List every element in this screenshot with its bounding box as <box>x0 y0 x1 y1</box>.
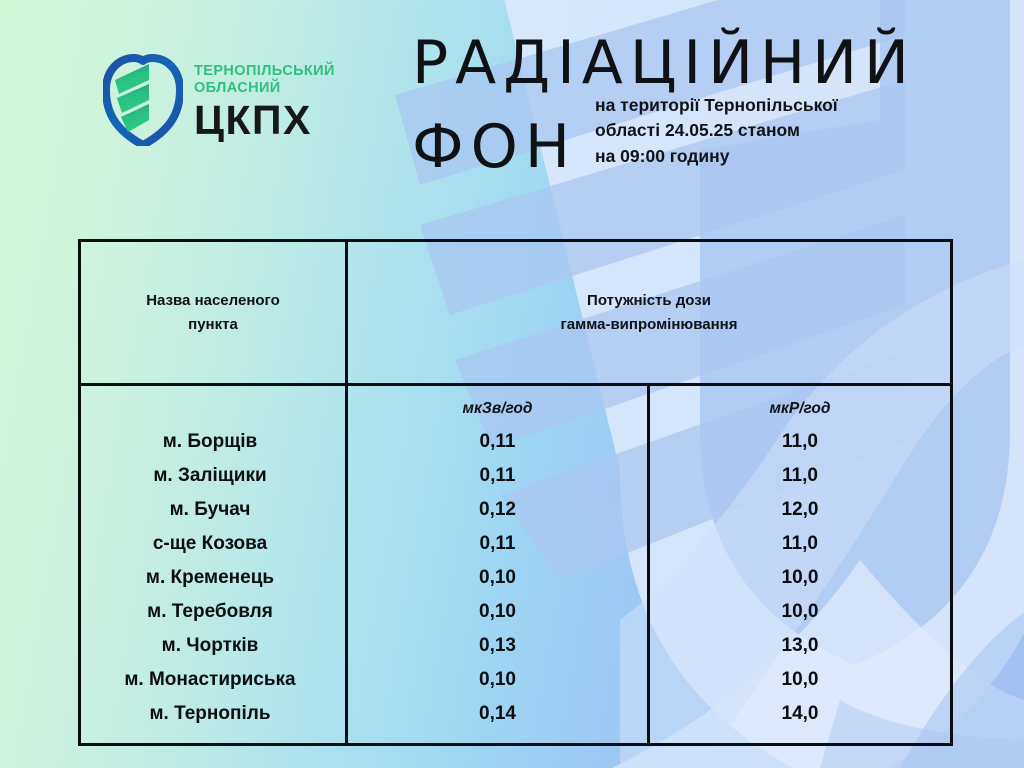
locality-name-cell: м. Заліщики <box>81 459 345 493</box>
org-abbreviation: ЦКПХ <box>194 100 335 141</box>
locality-name-cell: с-ще Козова <box>81 527 345 561</box>
unit-label-sv: мкЗв/год <box>348 393 647 425</box>
microsievert-value-cell: 0,13 <box>348 629 647 663</box>
microsievert-value-cell: 0,10 <box>348 561 647 595</box>
microsievert-cell-list: мкЗв/год 0,110,110,120,110,100,100,130,1… <box>348 386 647 731</box>
microsievert-value-cell: 0,11 <box>348 459 647 493</box>
microsievert-value-cell: 0,10 <box>348 595 647 629</box>
shield-heart-icon <box>103 54 183 146</box>
headline-block: РАДІАЦІЙНИЙ ФОН на території Тернопільсь… <box>412 34 992 177</box>
column-locality: м. Борщівм. Заліщиким. Бучачс-ще Козовам… <box>81 386 348 743</box>
unit-spacer <box>81 393 345 425</box>
unit-label-r: мкР/год <box>650 393 950 425</box>
locality-name-cell: м. Борщів <box>81 425 345 459</box>
headline-word-2: ФОН <box>412 118 577 177</box>
microroentgen-value-cell: 11,0 <box>650 459 950 493</box>
microroentgen-value-cell: 11,0 <box>650 425 950 459</box>
microsievert-value-cell: 0,10 <box>348 663 647 697</box>
header-locality-line-2: пункта <box>146 313 280 336</box>
microroentgen-value-cell: 11,0 <box>650 527 950 561</box>
microsievert-value-cell: 0,14 <box>348 697 647 731</box>
header-dose-line-1: Потужність дози <box>561 289 738 312</box>
headline-word-1: РАДІАЦІЙНИЙ <box>412 34 992 93</box>
subtitle-line-3: на 09:00 годину <box>595 144 838 169</box>
header-dose-text: Потужність дози гамма-випромінювання <box>561 289 738 336</box>
subtitle-line-2: області 24.05.25 станом <box>595 118 838 143</box>
header-locality-text: Назва населеного пункта <box>146 289 280 336</box>
microsievert-value-cell: 0,11 <box>348 425 647 459</box>
microroentgen-value-cell: 13,0 <box>650 629 950 663</box>
microroentgen-value-cell: 12,0 <box>650 493 950 527</box>
locality-name-cell: м. Тернопіль <box>81 697 345 731</box>
poster-canvas: ТЕРНОПІЛЬСЬКИЙ ОБЛАСНИЙ ЦКПХ РАДІАЦІЙНИЙ… <box>0 0 1024 768</box>
microsievert-value-cell: 0,11 <box>348 527 647 561</box>
header-dose-line-2: гамма-випромінювання <box>561 313 738 336</box>
org-line-1: ТЕРНОПІЛЬСЬКИЙ <box>194 63 335 80</box>
locality-name-cell: м. Теребовля <box>81 595 345 629</box>
org-line-2: ОБЛАСНИЙ <box>194 80 335 97</box>
locality-name-cell: м. Кременець <box>81 561 345 595</box>
microsievert-value-cell: 0,12 <box>348 493 647 527</box>
table-body: м. Борщівм. Заліщиким. Бучачс-ще Козовам… <box>81 386 950 743</box>
logo-wordmark: ТЕРНОПІЛЬСЬКИЙ ОБЛАСНИЙ ЦКПХ <box>194 59 335 141</box>
microroentgen-value-cell: 10,0 <box>650 663 950 697</box>
microroentgen-value-cell: 10,0 <box>650 595 950 629</box>
headline-row-2: ФОН на території Тернопільської області … <box>412 93 992 177</box>
organization-logo: ТЕРНОПІЛЬСЬКИЙ ОБЛАСНИЙ ЦКПХ <box>103 54 335 146</box>
locality-name-cell: м. Чортків <box>81 629 345 663</box>
subtitle-line-1: на території Тернопільської <box>595 93 838 118</box>
header-locality-line-1: Назва населеного <box>146 289 280 312</box>
locality-name-cell: м. Монастириська <box>81 663 345 697</box>
microroentgen-value-cell: 10,0 <box>650 561 950 595</box>
header-cell-locality: Назва населеного пункта <box>81 242 348 383</box>
locality-cell-list: м. Борщівм. Заліщиким. Бучачс-ще Козовам… <box>81 386 345 731</box>
table-header-row: Назва населеного пункта Потужність дози … <box>81 242 950 386</box>
microroentgen-cell-list: мкР/год 11,011,012,011,010,010,013,010,0… <box>650 386 950 731</box>
header-cell-dose-rate: Потужність дози гамма-випромінювання <box>348 242 950 383</box>
headline-subtitle: на території Тернопільської області 24.0… <box>595 93 838 177</box>
column-microsievert: мкЗв/год 0,110,110,120,110,100,100,130,1… <box>348 386 650 743</box>
locality-name-cell: м. Бучач <box>81 493 345 527</box>
radiation-table: Назва населеного пункта Потужність дози … <box>78 239 953 746</box>
column-microroentgen: мкР/год 11,011,012,011,010,010,013,010,0… <box>650 386 950 743</box>
microroentgen-value-cell: 14,0 <box>650 697 950 731</box>
